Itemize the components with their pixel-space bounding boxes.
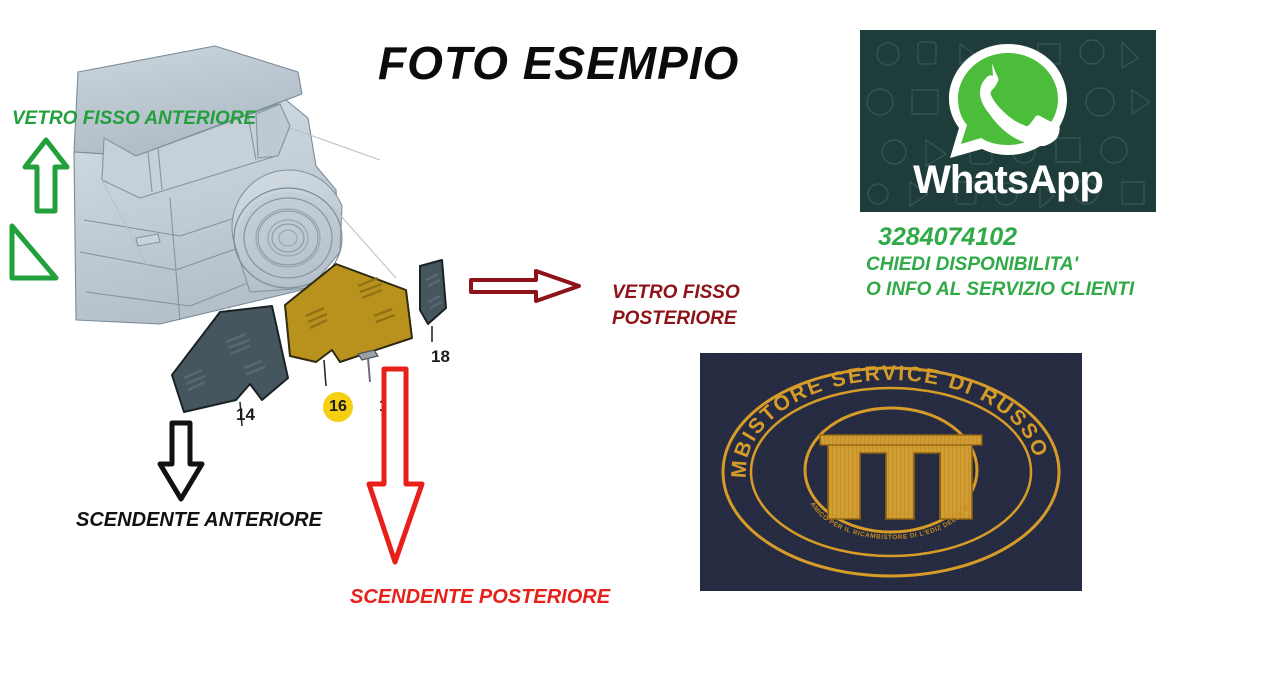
contact-line-availability: CHIEDI DISPONIBILITA': [866, 252, 1206, 277]
dark-red-right-arrow-icon: [468, 268, 582, 304]
green-up-arrow-icon: [22, 137, 70, 215]
part-number-14: 14: [236, 405, 255, 425]
shop-logo-svg: MRICAMBISTORE SERVICE DI RUSSO MARCO IL …: [700, 353, 1082, 591]
black-down-arrow-icon: [157, 420, 205, 502]
callout-label-scendente-anteriore: SCENDENTE ANTERIORE: [76, 509, 322, 532]
callout-line-2: POSTERIORE: [612, 306, 740, 332]
contact-info-block: 3284074102 CHIEDI DISPONIBILITA' O INFO …: [866, 222, 1206, 302]
whatsapp-banner: WhatsApp: [860, 30, 1156, 212]
whatsapp-phone-icon: [944, 40, 1072, 164]
callout-label-vetro-fisso-posteriore: VETRO FISSO POSTERIORE: [612, 280, 740, 332]
shop-logo-banner: MRICAMBISTORE SERVICE DI RUSSO MARCO IL …: [700, 353, 1082, 591]
callout-line-1: VETRO FISSO: [612, 280, 740, 306]
red-down-arrow-icon: [365, 366, 427, 566]
part-number-18: 18: [431, 347, 450, 367]
whatsapp-wordmark: WhatsApp: [860, 158, 1156, 203]
callout-label-scendente-posteriore: SCENDENTE POSTERIORE: [350, 586, 610, 609]
shop-logo-monogram: [820, 435, 982, 519]
glass-part-18: [420, 260, 446, 342]
contact-line-customer-service: O INFO AL SERVIZIO CLIENTI: [866, 277, 1206, 302]
phone-number[interactable]: 3284074102: [878, 222, 1206, 252]
callout-label-vetro-fisso-anteriore: VETRO FISSO ANTERIORE: [12, 108, 256, 130]
part-number-16-badge: 16: [323, 392, 353, 422]
green-triangle-arrow-icon: [8, 222, 60, 284]
page-title: FOTO ESEMPIO: [378, 36, 798, 90]
glass-part-14: [172, 306, 288, 426]
